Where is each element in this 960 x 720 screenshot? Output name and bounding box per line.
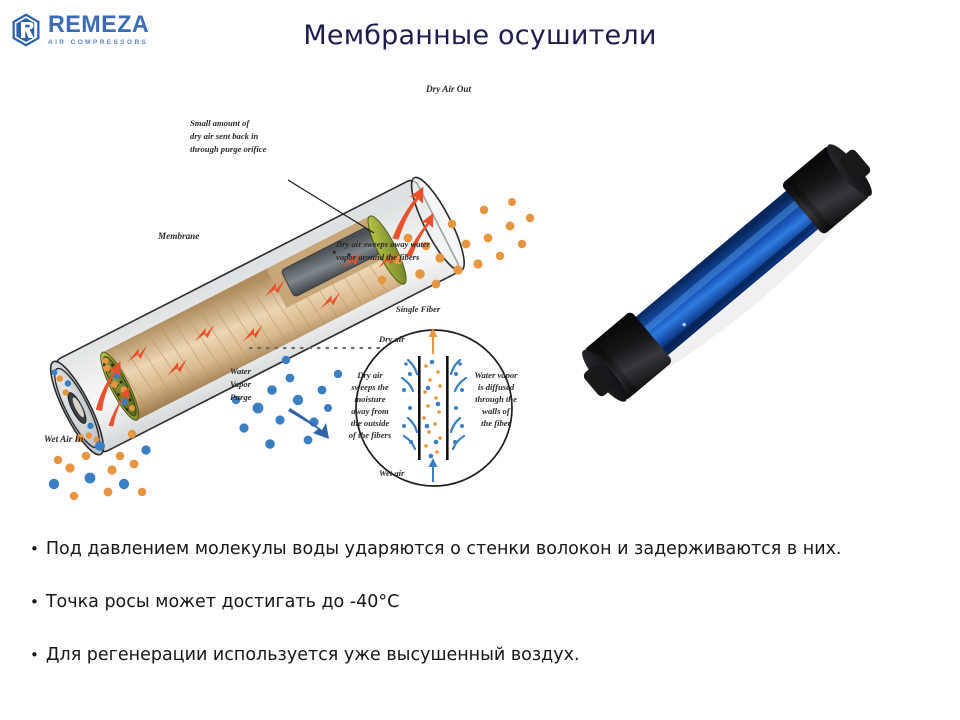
- bullet-text: Под давлением молекулы воды ударяются о …: [46, 538, 940, 560]
- inset-left-note-2: sweeps the: [350, 382, 389, 392]
- label-water-vapor-purge-1: Water: [230, 366, 252, 376]
- label-membrane: Membrane: [157, 231, 199, 241]
- inset-left-note-1: Dry air: [356, 370, 383, 380]
- label-single-fiber: Single Fiber: [396, 304, 441, 314]
- list-item: • Для регенерации используется уже высуш…: [30, 644, 940, 666]
- inset-left-note-5: the outside: [351, 418, 390, 428]
- label-water-vapor-purge-2: Vapor: [230, 379, 252, 389]
- membrane-dryer-cartridge-photo: [552, 128, 902, 418]
- label-sweep-note-line2: vapor around the fibers: [336, 252, 420, 262]
- bullet-marker-icon: •: [30, 538, 39, 560]
- label-sweep-note-line1: Dry air sweeps away water: [335, 239, 431, 249]
- label-wet-air-in: Wet Air In: [44, 434, 83, 444]
- single-fiber-detail-inset: Dry air Wet air Dry air sweeps the moist…: [349, 328, 518, 486]
- label-purge-note-line2: dry air sent back in: [190, 131, 258, 141]
- inset-right-note-4: walls of: [482, 406, 511, 416]
- bullet-text: Точка росы может достигать до -40°C: [46, 591, 940, 613]
- list-item: • Под давлением молекулы воды ударяются …: [30, 538, 940, 560]
- page-title: Мембранные осушители: [0, 20, 960, 51]
- bullet-list: • Под давлением молекулы воды ударяются …: [30, 538, 940, 697]
- inset-left-note-3: moisture: [354, 394, 385, 404]
- inset-label-wet-air: Wet air: [379, 468, 405, 478]
- list-item: • Точка росы может достигать до -40°C: [30, 591, 940, 613]
- inset-left-note-6: of the fibers: [349, 430, 392, 440]
- inset-label-dry-air: Dry air: [378, 334, 405, 344]
- label-purge-note-line3: through purge orifice: [190, 144, 267, 154]
- bullet-marker-icon: •: [30, 644, 39, 666]
- label-water-vapor-purge-3: Purge: [230, 392, 252, 402]
- slide-header: REMEZA AIR COMPRESSORS Мембранные осушит…: [0, 0, 960, 68]
- bullet-marker-icon: •: [30, 591, 39, 613]
- label-purge-note-line1: Small amount of: [190, 118, 250, 128]
- bullet-text: Для регенерации используется уже высушен…: [46, 644, 940, 666]
- membrane-dryer-cutaway-diagram: .lbl { font-family:"Liberation Serif",se…: [22, 78, 542, 508]
- inset-right-note-5: the fiber: [481, 418, 511, 428]
- inset-left-note-4: away from: [351, 406, 389, 416]
- inset-right-note-2: is diffused: [478, 382, 515, 392]
- inset-right-note-3: through the: [475, 394, 517, 404]
- label-dry-air-out: Dry Air Out: [425, 84, 472, 94]
- inset-right-note-1: Water vapor: [474, 370, 518, 380]
